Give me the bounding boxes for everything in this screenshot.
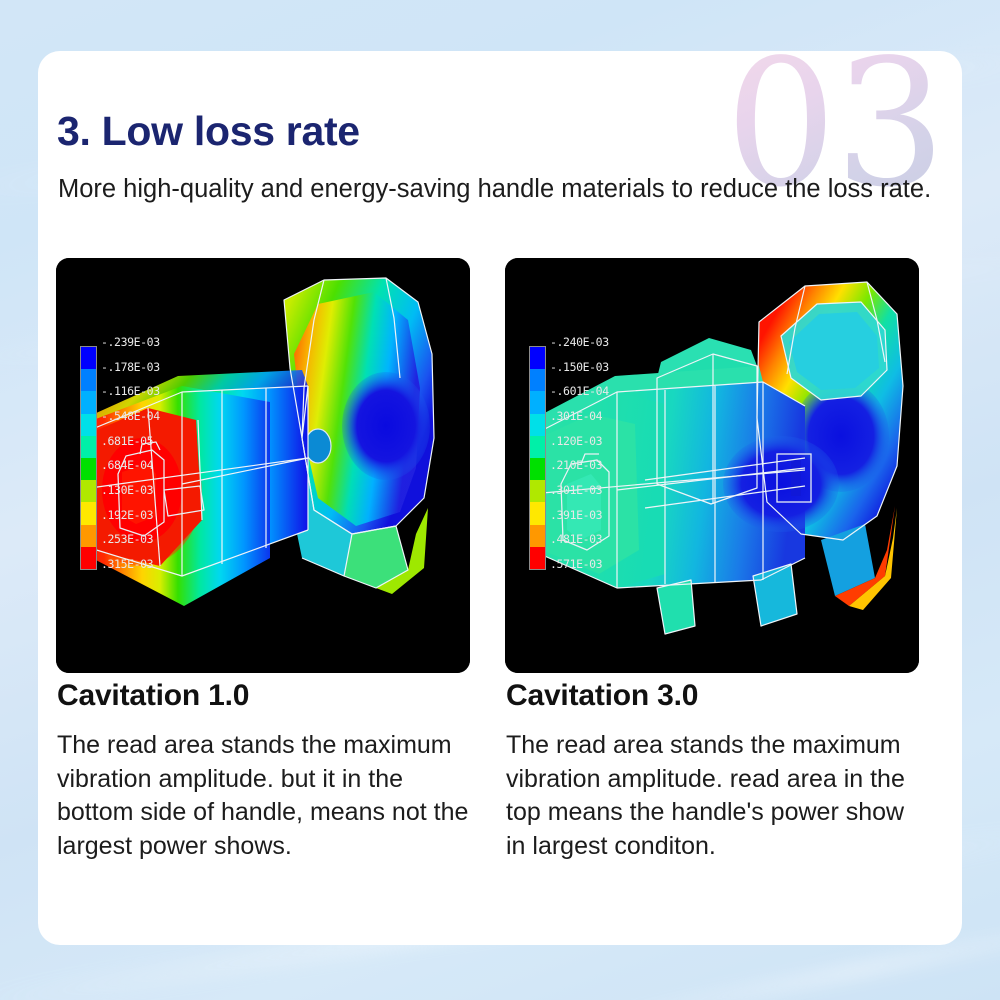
colorbar-segment [81,391,96,413]
colorbar-segment [530,480,545,502]
caption-title: Cavitation 1.0 [57,679,470,713]
colorbar-tick-label: .253E-03 [101,532,153,546]
page-title: 3. Low loss rate [57,108,360,155]
fea-panel-group: -.239E-03-.178E-03-.116E-03-.548E-04.681… [56,258,946,673]
colorbar-tick-label: -.178E-03 [101,360,160,374]
caption-body: The read area stands the maximum vibrati… [506,729,919,863]
colorbar [529,346,546,570]
colorbar-tick-label: -.240E-03 [550,335,609,349]
contour-legend-cavitation-3: -.240E-03-.150E-03-.601E-04.301E-04.120E… [529,346,645,570]
colorbar-segment [530,502,545,524]
colorbar-segment [530,414,545,436]
colorbar-tick-label: -.116E-03 [101,384,160,398]
colorbar-tick-label: .391E-03 [550,508,602,522]
colorbar-tick-label: .571E-03 [550,557,602,571]
colorbar-segment [81,502,96,524]
colorbar-segment [81,436,96,458]
caption-cavitation-3: Cavitation 3.0 The read area stands the … [505,679,919,863]
colorbar-tick-label: .481E-03 [550,532,602,546]
fea-image-cavitation-3: -.240E-03-.150E-03-.601E-04.301E-04.120E… [505,258,919,673]
colorbar-tick-label: -.239E-03 [101,335,160,349]
caption-body: The read area stands the maximum vibrati… [57,729,470,863]
caption-title: Cavitation 3.0 [506,679,919,713]
colorbar-segment [530,347,545,369]
colorbar-tick-label: -.601E-04 [550,384,609,398]
colorbar-labels: -.240E-03-.150E-03-.601E-04.301E-04.120E… [550,346,645,568]
colorbar-labels: -.239E-03-.178E-03-.116E-03-.548E-04.681… [101,346,196,568]
colorbar-segment [530,369,545,391]
colorbar-segment [81,369,96,391]
colorbar-tick-label: -.150E-03 [550,360,609,374]
page-subtitle: More high-quality and energy-saving hand… [58,173,958,207]
colorbar-segment [530,547,545,569]
colorbar-segment [81,458,96,480]
colorbar [80,346,97,570]
colorbar-segment [81,414,96,436]
colorbar-tick-label: .130E-03 [101,483,153,497]
colorbar-segment [81,525,96,547]
colorbar-tick-label: .210E-03 [550,458,602,472]
colorbar-segment [530,525,545,547]
colorbar-tick-label: .301E-03 [550,483,602,497]
colorbar-tick-label: .681E-05 [101,434,153,448]
colorbar-tick-label: .120E-03 [550,434,602,448]
colorbar-segment [81,480,96,502]
colorbar-segment [530,391,545,413]
caption-cavitation-1: Cavitation 1.0 The read area stands the … [56,679,470,863]
content-card: 03 3. Low loss rate More high-quality an… [38,51,962,945]
colorbar-tick-label: .315E-03 [101,557,153,571]
colorbar-segment [530,436,545,458]
colorbar-segment [81,347,96,369]
colorbar-tick-label: .192E-03 [101,508,153,522]
colorbar-segment [81,547,96,569]
caption-group: Cavitation 1.0 The read area stands the … [56,679,946,863]
colorbar-segment [530,458,545,480]
contour-legend-cavitation-1: -.239E-03-.178E-03-.116E-03-.548E-04.681… [80,346,196,570]
fea-image-cavitation-1: -.239E-03-.178E-03-.116E-03-.548E-04.681… [56,258,470,673]
colorbar-tick-label: .684E-04 [101,458,153,472]
colorbar-tick-label: -.548E-04 [101,409,160,423]
colorbar-tick-label: .301E-04 [550,409,602,423]
